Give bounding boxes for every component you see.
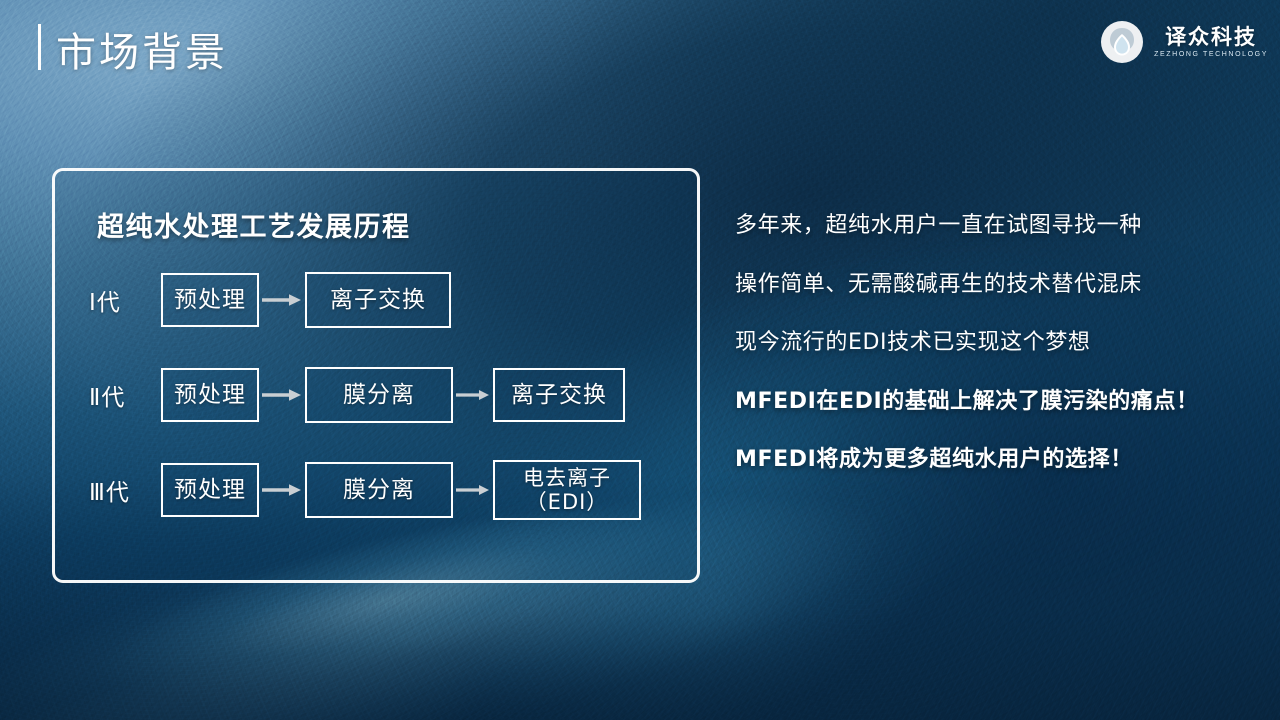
logo-name-en: ZEZHONG TECHNOLOGY xyxy=(1154,51,1268,58)
description-text-block: 多年来，超纯水用户一直在试图寻找一种 操作简单、无需酸碱再生的技术替代混床 现今… xyxy=(735,212,1275,474)
description-line: MFEDI将成为更多超纯水用户的选择！ xyxy=(735,446,1275,474)
process-node[interactable]: 膜分离 xyxy=(305,367,453,423)
generation-label: Ⅲ代 xyxy=(89,473,161,507)
logo-wordmark: 译众科技 ZEZHONG TECHNOLOGY xyxy=(1154,27,1268,58)
process-node[interactable]: 离子交换 xyxy=(493,368,625,422)
title-accent-bar xyxy=(38,24,41,70)
process-evolution-panel: 超纯水处理工艺发展历程 Ⅰ代 预处理 离子交换 Ⅱ代 预处理 xyxy=(52,168,700,583)
process-node[interactable]: 预处理 xyxy=(161,273,259,327)
description-line: 现今流行的EDI技术已实现这个梦想 xyxy=(735,329,1275,357)
description-line: MFEDI在EDI的基础上解决了膜污染的痛点！ xyxy=(735,388,1275,416)
slide-root: 市场背景 译众科技 ZEZHONG TECHNOLOGY 超纯水处理工艺发展历程 xyxy=(0,0,1280,720)
description-line: 多年来，超纯水用户一直在试图寻找一种 xyxy=(735,212,1275,240)
page-title: 市场背景 xyxy=(56,20,228,78)
right-arrow-icon xyxy=(259,480,305,500)
flow-rows: Ⅰ代 预处理 离子交换 Ⅱ代 预处理 膜分离 xyxy=(55,265,697,525)
process-node[interactable]: 预处理 xyxy=(161,368,259,422)
generation-label: Ⅱ代 xyxy=(89,378,161,412)
process-node[interactable]: 离子交换 xyxy=(305,272,451,328)
process-node[interactable]: 预处理 xyxy=(161,463,259,517)
slide-header: 市场背景 译众科技 ZEZHONG TECHNOLOGY xyxy=(0,0,1280,96)
flow-row: Ⅱ代 预处理 膜分离 离子交换 xyxy=(55,360,697,430)
generation-label: Ⅰ代 xyxy=(89,283,161,317)
flow-row: Ⅰ代 预处理 离子交换 xyxy=(55,265,697,335)
right-arrow-icon xyxy=(259,290,305,310)
process-node[interactable]: 膜分离 xyxy=(305,462,453,518)
right-arrow-icon xyxy=(453,385,493,405)
right-arrow-icon xyxy=(453,480,493,500)
description-line: 操作简单、无需酸碱再生的技术替代混床 xyxy=(735,271,1275,299)
process-node[interactable]: 电去离子 （EDI） xyxy=(493,460,641,520)
company-logo: 译众科技 ZEZHONG TECHNOLOGY xyxy=(1099,18,1268,66)
right-arrow-icon xyxy=(259,385,305,405)
logo-name-cn: 译众科技 xyxy=(1165,27,1257,48)
water-droplet-icon xyxy=(1099,19,1145,65)
flow-row: Ⅲ代 预处理 膜分离 电去离子 （EDI） xyxy=(55,455,697,525)
panel-title: 超纯水处理工艺发展历程 xyxy=(97,205,411,244)
